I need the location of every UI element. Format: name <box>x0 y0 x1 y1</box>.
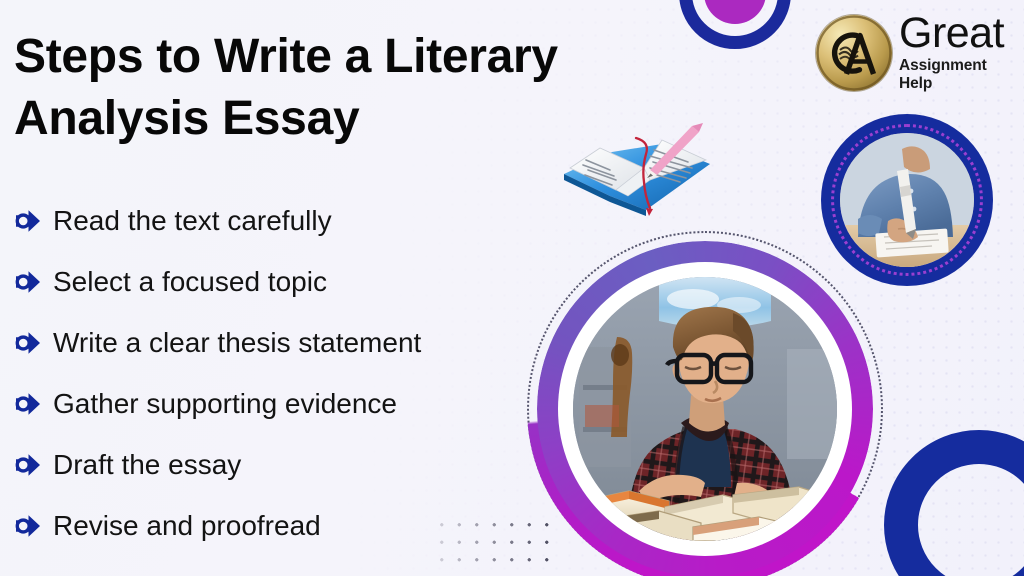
hero-photo-circle <box>527 231 883 576</box>
list-item: Gather supporting evidence <box>14 373 554 434</box>
list-item-label: Gather supporting evidence <box>53 390 397 418</box>
arrow-circle-bullet-icon <box>14 453 41 477</box>
brand-logo[interactable]: Great Assignment Help <box>816 13 1024 93</box>
list-item: Write a clear thesis statement <box>14 312 554 373</box>
list-item: Select a focused topic <box>14 251 554 312</box>
brand-name: Great <box>899 13 1024 54</box>
arrow-circle-bullet-icon <box>14 392 41 416</box>
list-item: Draft the essay <box>14 434 554 495</box>
list-item: Read the text carefully <box>14 190 554 251</box>
arrow-circle-bullet-icon <box>14 331 41 355</box>
dot-matrix <box>433 516 555 562</box>
infographic-slide: Steps to Write a Literary Analysis Essay… <box>0 0 1024 576</box>
brand-tagline: Assignment Help <box>899 57 1024 93</box>
ga-medallion-icon <box>816 15 892 91</box>
brand-wordmark: Great Assignment Help <box>899 13 1024 93</box>
open-book-illustration <box>558 112 722 216</box>
list-item-label: Write a clear thesis statement <box>53 329 421 357</box>
corner-ring <box>884 430 1024 576</box>
arrow-circle-bullet-icon <box>14 209 41 233</box>
list-item-label: Draft the essay <box>53 451 241 479</box>
list-item-label: Revise and proofread <box>53 512 321 540</box>
student-reading-photo <box>573 277 837 541</box>
list-item-label: Read the text carefully <box>53 207 332 235</box>
arrow-circle-bullet-icon <box>14 514 41 538</box>
arrow-circle-bullet-icon <box>14 270 41 294</box>
steps-list: Read the text carefully Select a focused… <box>14 190 554 556</box>
list-item-label: Select a focused topic <box>53 268 327 296</box>
